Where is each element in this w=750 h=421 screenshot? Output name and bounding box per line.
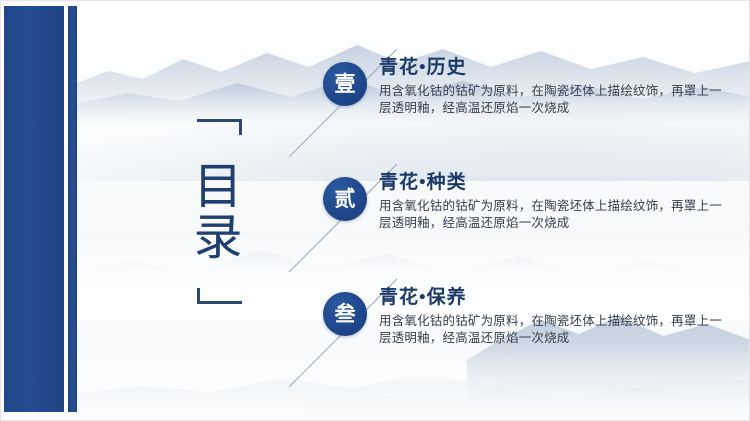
item-number-badge: 壹	[323, 62, 367, 106]
page-title-text: 目 录	[187, 145, 249, 279]
list-item[interactable]: 叁 青花•保养 用含氧化钴的钴矿为原料，在陶瓷坯体上描绘纹饰，再罩上一层透明釉，…	[301, 275, 741, 390]
item-title: 青花•保养	[379, 286, 724, 310]
item-title: 青花•历史	[379, 56, 724, 80]
item-title: 青花•种类	[379, 171, 724, 195]
left-accent-bar-wide	[4, 6, 64, 412]
agenda-list: 壹 青花•历史 用含氧化钴的钴矿为原料，在陶瓷坯体上描绘纹饰，再罩上一层透明釉，…	[301, 45, 741, 390]
item-description: 用含氧化钴的钴矿为原料，在陶瓷坯体上描绘纹饰，再罩上一层透明釉，经高温还原焰一次…	[379, 198, 724, 232]
left-accent-bar-thin	[68, 6, 77, 412]
page-title-char-1: 目	[193, 162, 242, 212]
item-text-block: 青花•种类 用含氧化钴的钴矿为原料，在陶瓷坯体上描绘纹饰，再罩上一层透明釉，经高…	[379, 171, 724, 232]
item-number-badge: 叁	[323, 292, 367, 336]
item-number-label: 壹	[335, 74, 356, 95]
bracket-bottom-icon	[197, 288, 242, 304]
bracket-top-icon	[197, 119, 242, 135]
item-description: 用含氧化钴的钴矿为原料，在陶瓷坯体上描绘纹饰，再罩上一层透明釉，经高温还原焰一次…	[379, 83, 724, 117]
item-text-block: 青花•保养 用含氧化钴的钴矿为原料，在陶瓷坯体上描绘纹饰，再罩上一层透明釉，经高…	[379, 286, 724, 347]
item-number-label: 贰	[335, 189, 356, 210]
page-title: 目 录	[187, 119, 249, 304]
item-number-label: 叁	[335, 304, 356, 325]
slide-canvas: 目 录 壹 青花•历史 用含氧化钴的钴矿为原料，在陶瓷坯体上描绘纹饰，再罩上一层…	[0, 0, 750, 421]
list-item[interactable]: 壹 青花•历史 用含氧化钴的钴矿为原料，在陶瓷坯体上描绘纹饰，再罩上一层透明釉，…	[301, 45, 741, 160]
item-number-badge: 贰	[323, 177, 367, 221]
item-description: 用含氧化钴的钴矿为原料，在陶瓷坯体上描绘纹饰，再罩上一层透明釉，经高温还原焰一次…	[379, 313, 724, 347]
item-text-block: 青花•历史 用含氧化钴的钴矿为原料，在陶瓷坯体上描绘纹饰，再罩上一层透明釉，经高…	[379, 56, 724, 117]
list-item[interactable]: 贰 青花•种类 用含氧化钴的钴矿为原料，在陶瓷坯体上描绘纹饰，再罩上一层透明釉，…	[301, 160, 741, 275]
page-title-char-2: 录	[193, 213, 242, 263]
